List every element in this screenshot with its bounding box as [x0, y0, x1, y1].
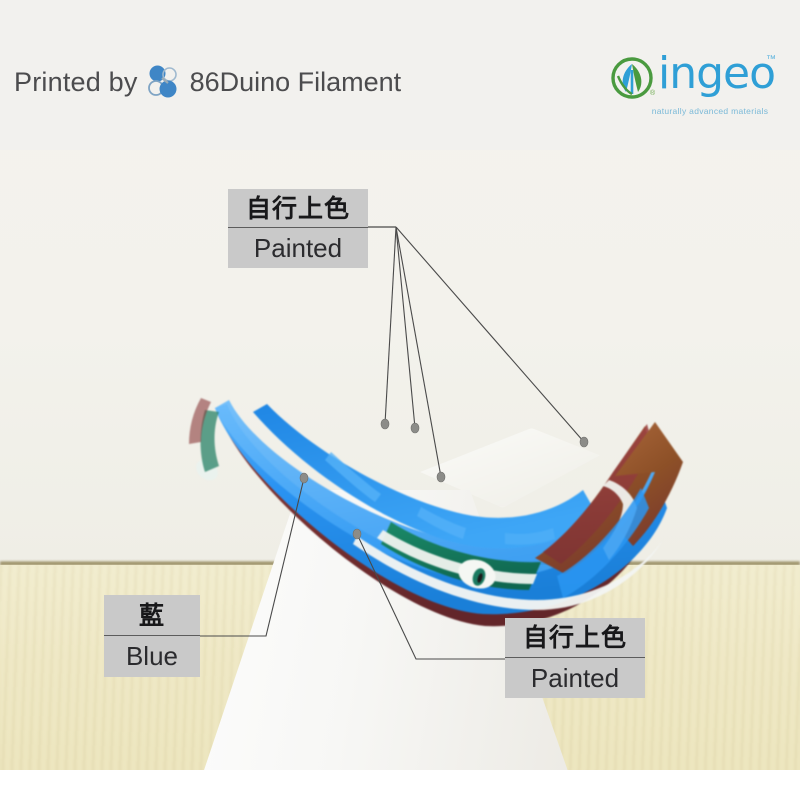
callout-painted-bottom-english: Painted — [505, 658, 645, 698]
boat-illustration — [185, 368, 685, 628]
ingeo-logo: ® ingeo ™ naturally advanced materials — [610, 52, 778, 130]
header-band: Printed by 86Duino Filament ® ingeo ™ na… — [0, 0, 800, 150]
footer-strip — [0, 770, 800, 800]
logo-registered-mark: ® — [650, 90, 655, 97]
screenshot-root: 自行上色 Painted 藍 Blue 自行上色 Painted Printed… — [0, 0, 800, 800]
printed-by-label: Printed by — [14, 67, 138, 98]
logo-tagline: naturally advanced materials — [644, 106, 776, 116]
callout-painted-top: 自行上色 Painted — [228, 189, 368, 268]
callout-painted-top-chinese: 自行上色 — [228, 189, 368, 227]
callout-painted-top-english: Painted — [228, 228, 368, 268]
logo-trademark-mark: ™ — [766, 54, 776, 65]
logo-wordmark: ingeo — [658, 50, 775, 98]
clover-icon — [144, 62, 184, 102]
leaf-circle-icon — [610, 56, 654, 100]
callout-painted-bottom: 自行上色 Painted — [505, 618, 645, 698]
callout-blue: 藍 Blue — [104, 595, 200, 677]
callout-blue-chinese: 藍 — [104, 595, 200, 635]
callout-painted-bottom-chinese: 自行上色 — [505, 618, 645, 657]
boat-model — [185, 368, 685, 628]
callout-blue-english: Blue — [104, 636, 200, 677]
printed-by-group: Printed by 86Duino Filament — [14, 62, 401, 102]
brand-name: 86Duino Filament — [190, 67, 402, 98]
